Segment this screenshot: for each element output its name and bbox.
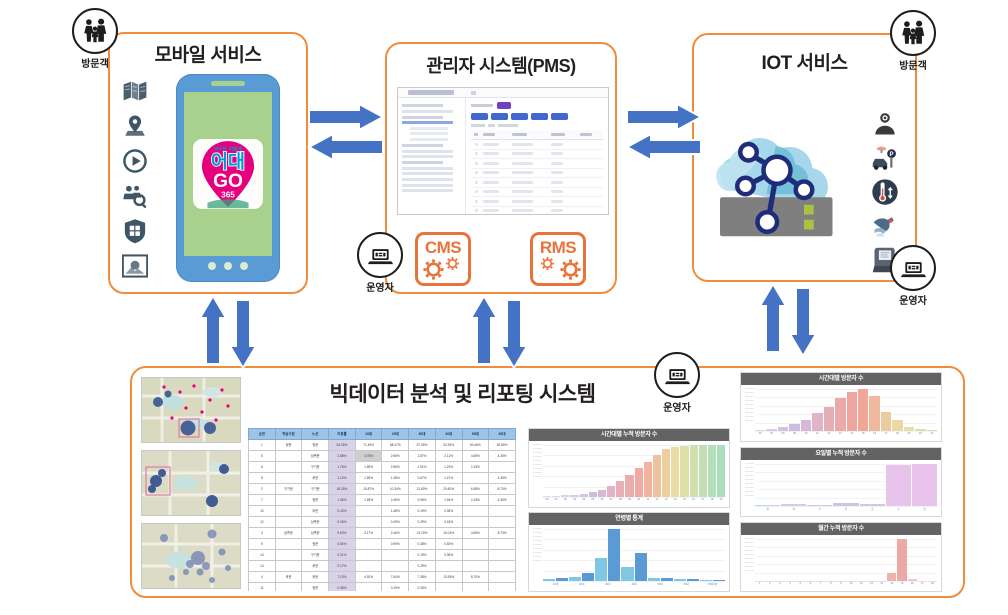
stats-table-cell: 0.21%: [329, 550, 356, 561]
chart-x-label: 03: [570, 498, 578, 505]
chart-bar[interactable]: [616, 481, 624, 497]
stats-table-cell: 21.80%: [409, 484, 436, 495]
chart-bar[interactable]: [904, 427, 914, 431]
chart-bar-group[interactable]: [700, 529, 725, 581]
chart-x-label: 06: [598, 498, 606, 505]
table-row: 13구기문0.21%0.19%0.35%: [249, 550, 516, 561]
stats-table-cell: 13: [249, 550, 276, 561]
chart-bar[interactable]: [671, 447, 679, 497]
actor-operator-pms-caption: 운영자: [347, 279, 413, 294]
chart-bars: [755, 464, 937, 506]
chart-x-label: 08: [778, 432, 788, 439]
chart-x-labels: 123456789101112131415161718: [755, 582, 937, 589]
table-row: 6구기문1.76%1.59%2.96%1.91%1.23%2.15%: [249, 462, 516, 473]
chart-x-label: 15: [680, 498, 688, 505]
chart-x-label: 7: [816, 582, 825, 589]
gear-icon-small: [445, 256, 460, 271]
table-row: 14후문0.17%0.29%: [249, 561, 516, 572]
phone-speaker: [211, 81, 245, 86]
chart-bar[interactable]: [869, 396, 879, 431]
chart-bar[interactable]: [887, 573, 896, 581]
chart-bar-group[interactable]: [674, 529, 699, 581]
stats-table-cell: [489, 506, 516, 517]
chart-bar[interactable]: [589, 492, 597, 497]
stats-table-cell: 3.17%: [355, 528, 382, 539]
table-row: 9정문0.54%0.99%0.38%0.53%: [249, 539, 516, 550]
chart-x-label: 12: [824, 432, 834, 439]
stats-table-cell: 8.70%: [489, 528, 516, 539]
chart-bar[interactable]: [833, 503, 858, 506]
pms-button[interactable]: [491, 113, 508, 120]
chart-bar[interactable]: [543, 579, 555, 581]
stats-table-cell: 0.17%: [329, 561, 356, 572]
stats-table-cell: [275, 495, 302, 506]
pms-sidebar-subitem[interactable]: [410, 127, 448, 130]
stats-table-cell: 0.38%: [409, 539, 436, 550]
actor-operator-bigdata: 운영자: [654, 352, 700, 398]
chart-bar-group[interactable]: [621, 529, 646, 581]
stats-table-cell: 정문: [302, 539, 329, 550]
stats-table-header-cell: 이용률: [329, 429, 356, 440]
chart-x-label: 50대: [648, 582, 673, 589]
chart-y-axis: [533, 528, 542, 581]
chart-x-label: 18: [892, 432, 902, 439]
pms-sidebar-group: [402, 144, 443, 147]
chart-bar[interactable]: [595, 558, 607, 581]
pms-data-table: [471, 130, 603, 215]
stats-table-cell: 0.19%: [409, 550, 436, 561]
chart-x-label: 07: [607, 498, 615, 505]
stats-table-cell: 8: [249, 473, 276, 484]
chart-bar[interactable]: [561, 495, 569, 497]
pms-action-buttons[interactable]: [471, 113, 603, 120]
flow-mobile-pms: [305, 104, 387, 166]
stats-table-cell: 10: [249, 506, 276, 517]
pms-button[interactable]: [511, 113, 528, 120]
chart-bar[interactable]: [755, 505, 780, 506]
pms-page-title: [471, 104, 493, 107]
chart-x-label: 00: [543, 498, 551, 505]
stats-table-cell: 0.29%: [409, 561, 436, 572]
chart-bar[interactable]: [699, 445, 707, 497]
chart-bars: [543, 445, 725, 497]
stats-table-cell: [355, 539, 382, 550]
stats-table-header-cell: 40대: [435, 429, 462, 440]
chart-title: 요일별 누적 방문자 수: [741, 448, 941, 460]
chart-x-label: 09: [625, 498, 633, 505]
stats-table-cell: 1.59%: [355, 473, 382, 484]
stats-table-cell: 12: [249, 517, 276, 528]
stats-table-cell: 1.47%: [435, 473, 462, 484]
chart-bar[interactable]: [700, 580, 712, 581]
map-thumb-heat[interactable]: [141, 377, 241, 443]
chart-bar[interactable]: [886, 465, 911, 506]
chart-bar[interactable]: [807, 505, 832, 506]
chart-bar[interactable]: [635, 468, 643, 497]
stats-table-cell: [275, 539, 302, 550]
stats-table-cell: [382, 550, 409, 561]
chart-bar[interactable]: [598, 490, 606, 497]
stats-table-cell: 7: [249, 495, 276, 506]
chart-bar-group[interactable]: [595, 529, 620, 581]
chart-x-label: 15: [897, 582, 906, 589]
pms-sidebar-group: [402, 161, 443, 164]
stats-table-header-row: 순번학습구분노선이용률10대20대30대40대50대60대: [249, 429, 516, 440]
pms-sidebar-item-selected[interactable]: [402, 121, 453, 124]
people-search-icon: [122, 183, 148, 209]
chart-x-label: 10: [847, 582, 856, 589]
chart-x-label: 17: [699, 498, 707, 505]
chart-bar[interactable]: [789, 424, 799, 431]
chart-x-label: 14: [671, 498, 679, 505]
cctv-camera-icon: [871, 110, 899, 138]
pms-sidebar-item[interactable]: [402, 189, 453, 192]
stats-table-cell: 0.29%: [409, 517, 436, 528]
chart-bar[interactable]: [755, 430, 765, 431]
gear-icon: [422, 258, 445, 281]
pms-sidebar-item[interactable]: [402, 184, 453, 187]
chart-x-label: 60대: [674, 582, 699, 589]
table-row: [471, 187, 603, 197]
actor-visitor-left-caption: 방문객: [62, 55, 128, 70]
family-visitor-icon: [72, 8, 118, 54]
stats-table-cell: 60.85%: [489, 440, 516, 451]
stats-table-cell: 1.94%: [435, 495, 462, 506]
map-thumb-cluster[interactable]: [141, 450, 241, 516]
stats-table-cell: 3: [249, 528, 276, 539]
actor-visitor-right: 방문객: [890, 10, 936, 56]
chart-bar[interactable]: [607, 486, 615, 497]
chart-bar[interactable]: [766, 429, 776, 431]
chart-x-label: 10: [635, 498, 643, 505]
chart-bar[interactable]: [653, 455, 661, 497]
laptop-operator-icon: [357, 232, 403, 278]
stats-table-cell: 남측문: [302, 517, 329, 528]
chart-bar[interactable]: [781, 504, 806, 506]
chart-bar[interactable]: [847, 392, 857, 431]
stats-table-cell: 10.04%: [435, 528, 462, 539]
chart-x-label: 11: [644, 498, 652, 505]
table-row: [471, 197, 603, 207]
stats-table-cell: 2.15%: [462, 495, 489, 506]
stats-table-cell: 2.46%: [382, 528, 409, 539]
stats-table-cell: 6: [249, 462, 276, 473]
stats-table-body: 1정문정문53.35%71.45%68.47%57.05%53.35%60.46…: [249, 440, 516, 592]
pms-main-content: [466, 98, 608, 215]
chart-x-label: 12: [867, 582, 876, 589]
chart-x-label: 9: [836, 582, 845, 589]
stats-table-cell: [355, 517, 382, 528]
chart-bar[interactable]: [662, 449, 670, 497]
pms-sidebar-subitem[interactable]: [410, 132, 448, 135]
chart-x-label: 11: [857, 582, 866, 589]
map-thumb-density[interactable]: [141, 523, 241, 589]
stats-table-cell: 정문: [275, 440, 302, 451]
stats-table-cell: 0.54%: [329, 539, 356, 550]
pms-brand-logo: [408, 90, 454, 95]
chart-bar[interactable]: [608, 529, 620, 581]
stats-table-header-cell: 10대: [355, 429, 382, 440]
chart-x-label: 토: [886, 507, 911, 514]
stats-table-cell: 구기문: [302, 462, 329, 473]
pms-button[interactable]: [531, 113, 548, 120]
pms-sidebar-item[interactable]: [402, 150, 453, 153]
chart-bar[interactable]: [570, 495, 578, 497]
chart-y-axis: [745, 463, 754, 506]
table-row: 8후문1.12%1.59%1.48%0.67%1.47%4.35%: [249, 473, 516, 484]
chart-x-label: 02: [561, 498, 569, 505]
stats-table-cell: 0.96%: [409, 495, 436, 506]
pms-sidebar-subitem[interactable]: [410, 138, 448, 141]
panel-pms-title: 관리자 시스템(PMS): [387, 52, 615, 78]
chart-bar-group[interactable]: [569, 529, 594, 581]
cms-module[interactable]: CMS: [415, 232, 471, 286]
stats-table-cell: [275, 550, 302, 561]
mobile-feature-rail: [122, 78, 148, 279]
stats-table-header-cell: 60대: [489, 429, 516, 440]
panel-bigdata-reporting: 빅데이터 분석 및 리포팅 시스템: [130, 366, 965, 598]
chart-x-label: 20: [915, 432, 925, 439]
chart-bar[interactable]: [680, 446, 688, 497]
chart-bar-group[interactable]: [543, 529, 568, 581]
chart-title: 연령별 통계: [529, 513, 729, 525]
chart-bar[interactable]: [644, 462, 652, 497]
chart-x-label: 10대: [543, 582, 568, 589]
panel-mobile-service: 모바일 서비스 어디든 어떻게 어대 GO 365: [108, 32, 308, 294]
stats-table-cell: [275, 462, 302, 473]
chart-bar[interactable]: [635, 553, 647, 581]
pms-breadcrumb-row: [471, 102, 603, 109]
chart-bar[interactable]: [661, 578, 673, 581]
stats-table-cell: 1.46%: [329, 495, 356, 506]
flow-iot-bigdata: [760, 284, 822, 356]
stats-table-cell: 60.46%: [462, 440, 489, 451]
pms-table-header-row: [471, 130, 603, 140]
pms-sidebar-item[interactable]: [402, 110, 453, 113]
chart-bar[interactable]: [897, 539, 906, 581]
pms-admin-screenshot: [397, 87, 609, 215]
chart-bar[interactable]: [552, 496, 560, 497]
stats-table-cell: [275, 451, 302, 462]
chart-x-label: 20대: [569, 582, 594, 589]
rms-module[interactable]: RMS: [530, 232, 586, 286]
chart-x-label: 21: [927, 432, 937, 439]
stats-table-cell: 4: [249, 572, 276, 583]
chart-bar[interactable]: [713, 580, 725, 581]
chart-x-label: 15: [858, 432, 868, 439]
chart-x-labels: 06070809101112131415161718192021: [755, 432, 937, 439]
table-row: [471, 178, 603, 188]
stats-table-header-cell: 학습구분: [275, 429, 302, 440]
stats-table-cell: 2.88%: [329, 451, 356, 462]
architecture-diagram: P: [0, 0, 1008, 615]
chart-bars: [755, 389, 937, 431]
chart-bar[interactable]: [556, 578, 568, 581]
gear-icon-small: [540, 256, 555, 271]
pms-body: [398, 98, 608, 215]
table-row: 4후문후문7.13%4.92%7.64%7.38%13.95%8.70%: [249, 572, 516, 583]
chart-x-label: 07: [766, 432, 776, 439]
table-row: [471, 168, 603, 178]
chart-x-label: 30대: [595, 582, 620, 589]
table-row: 5남측문2.88%4.78%2.96%2.87%2.11%4.65%4.35%: [249, 451, 516, 462]
stats-table-cell: 후문: [302, 572, 329, 583]
stats-table-cell: 0.26%: [329, 517, 356, 528]
chart-bar[interactable]: [625, 475, 633, 497]
stats-table-cell: [275, 561, 302, 572]
chart-x-label: 2: [765, 582, 774, 589]
chart-bar[interactable]: [690, 445, 698, 497]
table-row: 10후문0.43%1.48%0.19%0.35%: [249, 506, 516, 517]
chart-x-label: 3: [775, 582, 784, 589]
chart-bar[interactable]: [858, 389, 868, 431]
chart-x-label: 16: [869, 432, 879, 439]
stats-table-cell: 1.12%: [329, 473, 356, 484]
chart-bar[interactable]: [674, 579, 686, 581]
chart-bar[interactable]: [621, 567, 633, 581]
map-icon: [122, 78, 148, 104]
stats-table-cell: [489, 550, 516, 561]
chart-y-axis: [745, 388, 754, 431]
chart-x-label: 04: [580, 498, 588, 505]
stats-table-cell: 8.70%: [489, 484, 516, 495]
play-media-icon: [122, 148, 148, 174]
stats-table-cell: 9.63%: [329, 528, 356, 539]
app-name-line3: 365: [221, 190, 235, 199]
stats-table-cell: 후문: [275, 572, 302, 583]
laptop-operator-icon: [890, 245, 936, 291]
stats-table-cell: [489, 539, 516, 550]
chart-bar[interactable]: [812, 413, 822, 431]
chart-x-label: 5: [796, 582, 805, 589]
stats-table-cell: 4.78%: [355, 451, 382, 462]
table-row: 7정문1.46%1.59%2.46%0.96%1.94%2.15%4.35%: [249, 495, 516, 506]
chart-bar[interactable]: [687, 579, 699, 581]
stats-table-cell: 18.35%: [329, 484, 356, 495]
chart-x-label: 09: [789, 432, 799, 439]
chart-bar[interactable]: [708, 445, 716, 497]
stats-table-cell: 0.38%: [329, 583, 356, 592]
stats-table-header-cell: 순번: [249, 429, 276, 440]
stats-table-header-cell: 20대: [382, 429, 409, 440]
chart-bar[interactable]: [927, 430, 937, 431]
chart-bar[interactable]: [824, 407, 834, 431]
stats-table-cell: 0.19%: [382, 583, 409, 592]
chart-bar[interactable]: [892, 420, 902, 431]
chart-bar[interactable]: [569, 577, 581, 581]
actor-operator-pms: 운영자: [357, 232, 403, 278]
table-row: 1정문정문53.35%71.45%68.47%57.05%53.35%60.46…: [249, 440, 516, 451]
stats-table-cell: 6.98%: [462, 484, 489, 495]
stats-table-cell: 구기문: [302, 550, 329, 561]
cloud-server-graphic: [708, 100, 858, 260]
chart-bar[interactable]: [778, 427, 788, 431]
chart-bar[interactable]: [835, 398, 845, 431]
stats-table-cell: 15.87%: [355, 484, 382, 495]
chart-bar[interactable]: [912, 464, 937, 506]
pms-sidebar-item[interactable]: [402, 172, 453, 175]
stats-table-cell: 0.43%: [329, 506, 356, 517]
stats-table-cell: 53.35%: [435, 440, 462, 451]
chart-x-labels: 0001020304050607080910111213141516171819: [543, 498, 725, 505]
chart-bar[interactable]: [543, 496, 551, 497]
pms-sidebar-item[interactable]: [402, 167, 453, 170]
chart-bar[interactable]: [648, 578, 660, 581]
chart-bar-group[interactable]: [648, 529, 673, 581]
stats-table-cell: 0.35%: [435, 550, 462, 561]
chart-bar[interactable]: [881, 412, 891, 431]
stats-table-cell: [355, 550, 382, 561]
app-name-line2: GO: [213, 171, 243, 192]
smartphone-mockup: 어디든 어떻게 어대 GO 365: [176, 74, 280, 282]
chart-bar[interactable]: [717, 445, 725, 497]
chart-title: 월간 누적 방문자 수: [741, 523, 941, 535]
stats-table-cell: 0.35%: [409, 583, 436, 592]
stats-table-cell: 0.18%: [435, 517, 462, 528]
chart-x-label: 14: [847, 432, 857, 439]
chart-x-label: 10: [801, 432, 811, 439]
chart-x-label: 6: [806, 582, 815, 589]
chart-x-label: 화: [781, 507, 806, 514]
pms-sidebar[interactable]: [398, 98, 466, 215]
stats-table-cell: [355, 506, 382, 517]
stats-table-cell: 1.59%: [355, 495, 382, 506]
stats-table-cell: 2.96%: [382, 451, 409, 462]
stats-table-cell: 2.87%: [409, 451, 436, 462]
stats-table-cell: [489, 462, 516, 473]
chart-bar[interactable]: [801, 420, 811, 431]
stats-table-cell: 후문: [302, 561, 329, 572]
pms-primary-chip[interactable]: [497, 102, 511, 109]
pms-sidebar-item[interactable]: [402, 178, 453, 181]
chart-x-label: 월: [755, 507, 780, 514]
stats-table-cell: [275, 583, 302, 592]
chart-bar[interactable]: [860, 504, 885, 506]
stats-table-cell: 남측문: [302, 451, 329, 462]
stats-table-cell: 남측문: [302, 528, 329, 539]
stats-table-cell: [435, 561, 462, 572]
chart-x-label: 13: [662, 498, 670, 505]
pms-button[interactable]: [551, 113, 568, 120]
pms-sidebar-item[interactable]: [402, 155, 453, 158]
stats-table-cell: 14: [249, 561, 276, 572]
stats-table-cell: 0.53%: [435, 539, 462, 550]
panel-mobile-title: 모바일 서비스: [110, 40, 306, 67]
stats-table-cell: [275, 517, 302, 528]
stats-table-cell: [355, 561, 382, 572]
chart-bar[interactable]: [908, 579, 917, 581]
pms-hamburger-icon[interactable]: [471, 91, 476, 95]
chart-bar[interactable]: [580, 494, 588, 497]
chart-x-label: 목: [833, 507, 858, 514]
chart-cumulative-visitors-by-weekday: 요일별 누적 방문자 수 월화수목금토일: [740, 447, 942, 517]
photo-frame-icon: [122, 253, 148, 279]
stats-table-cell: 1.48%: [382, 473, 409, 484]
chart-bar[interactable]: [915, 429, 925, 431]
panel-admin-pms: 관리자 시스템(PMS): [385, 42, 617, 294]
phone-nav-dots: [176, 257, 280, 275]
stats-table-cell: [462, 539, 489, 550]
stats-table-cell: 11: [249, 583, 276, 592]
stats-table-cell: 정문: [302, 440, 329, 451]
stats-table-cell: 후문: [302, 506, 329, 517]
pms-button[interactable]: [471, 113, 488, 120]
chart-bar[interactable]: [582, 573, 594, 581]
chart-visitors-by-hour: 시간대별 방문자 수 06070809101112131415161718192…: [740, 372, 942, 442]
stats-table-cell: 0.35%: [435, 506, 462, 517]
app-name-line1: 어대: [211, 151, 245, 172]
stats-table-cell: [382, 561, 409, 572]
